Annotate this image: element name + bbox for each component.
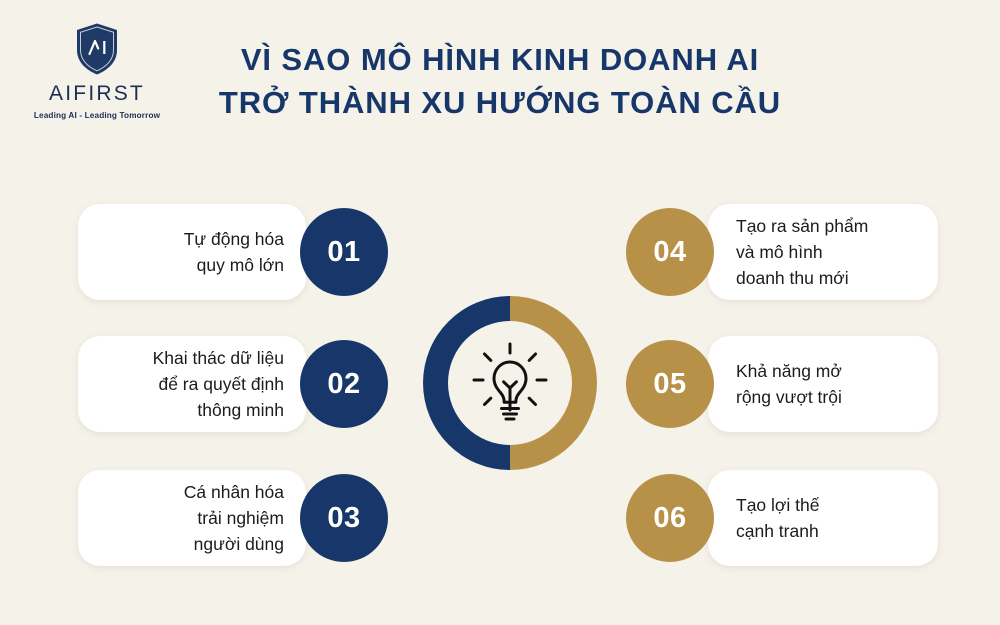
item-label: Tạo lợi thế cạnh tranh — [736, 492, 819, 544]
item-label: Khai thác dữ liệu để ra quyết định thông… — [153, 345, 284, 423]
item-number-badge[interactable]: 06 — [626, 474, 714, 562]
item-label: Cá nhân hóa trải nghiệm người dùng — [184, 479, 284, 557]
title-line-2: TRỞ THÀNH XU HƯỚNG TOÀN CẦU — [180, 81, 820, 124]
logo-tagline: Leading AI - Leading Tomorrow — [34, 111, 160, 120]
title-line-1: VÌ SAO MÔ HÌNH KINH DOANH AI — [180, 38, 820, 81]
item-number-badge[interactable]: 02 — [300, 340, 388, 428]
item-number-badge[interactable]: 01 — [300, 208, 388, 296]
logo-wordmark: AIFIRST — [49, 82, 145, 106]
item-label: Tự động hóa quy mô lớn — [184, 226, 284, 278]
item-number-badge[interactable]: 05 — [626, 340, 714, 428]
shield-ai-logo-icon — [74, 22, 120, 76]
page-title: VÌ SAO MÔ HÌNH KINH DOANH AI TRỞ THÀNH X… — [180, 38, 820, 124]
list-item[interactable]: Cá nhân hóa trải nghiệm người dùng 03 — [78, 470, 388, 566]
item-label: Tạo ra sản phẩm và mô hình doanh thu mới — [736, 213, 868, 291]
list-item[interactable]: Khai thác dữ liệu để ra quyết định thông… — [78, 336, 388, 432]
brand-logo: AIFIRST Leading AI - Leading Tomorrow — [32, 22, 162, 120]
item-number-badge[interactable]: 03 — [300, 474, 388, 562]
list-item[interactable]: Tự động hóa quy mô lớn 01 — [78, 204, 388, 300]
list-item[interactable]: Khả năng mở rộng vượt trội 05 — [626, 336, 938, 432]
list-item[interactable]: Tạo lợi thế cạnh tranh 06 — [626, 470, 938, 566]
list-item[interactable]: Tạo ra sản phẩm và mô hình doanh thu mới… — [626, 204, 938, 300]
item-label: Khả năng mở rộng vượt trội — [736, 358, 842, 410]
center-graphic — [422, 295, 598, 471]
header: AIFIRST Leading AI - Leading Tomorrow VÌ… — [0, 0, 1000, 160]
lightbulb-icon — [471, 340, 549, 426]
item-number-badge[interactable]: 04 — [626, 208, 714, 296]
